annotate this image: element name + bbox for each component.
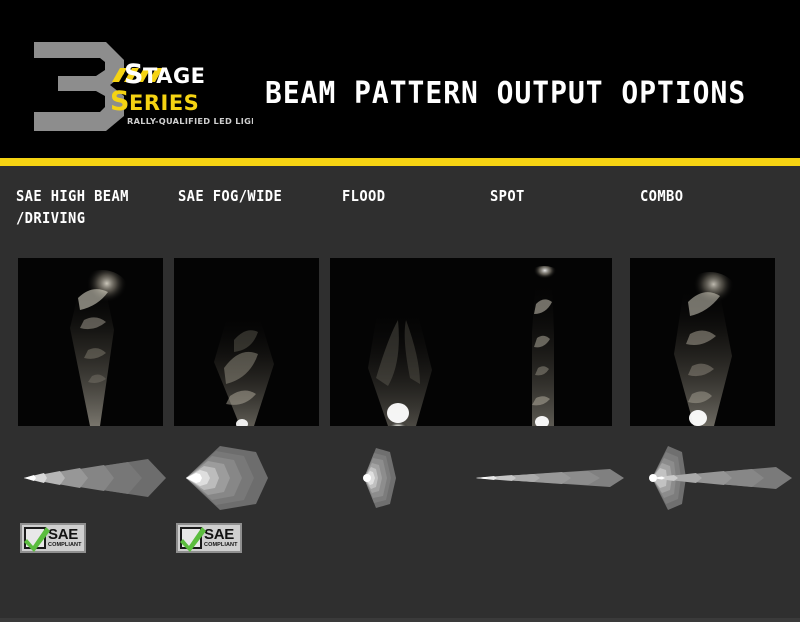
beam-pattern-sae-high-beam-driving	[16, 442, 176, 514]
bottom-edge-line	[0, 618, 800, 622]
beam-option-flood: FLOOD	[328, 166, 480, 618]
beam-photo-combo	[630, 258, 775, 426]
stage-series-logo: S TAGE S ERIES RALLY-QUALIFIED LED LIGHT…	[28, 34, 253, 132]
check-icon	[24, 527, 46, 549]
logo-tagline: RALLY-QUALIFIED LED LIGHTING	[127, 116, 253, 126]
beam-option-sae-fog-wide: SAE FOG/WIDE	[172, 166, 324, 618]
beam-photo-spot	[474, 258, 612, 426]
beam-option-columns: SAE HIGH BEAM /DRIVING	[0, 166, 800, 618]
beam-photo-sae-fog-wide	[174, 258, 319, 426]
column-label: SAE HIGH BEAM /DRIVING	[16, 186, 177, 230]
sae-badge-text: SAE COMPLIANT	[204, 527, 238, 549]
sae-compliant-badge: SAE COMPLIANT	[20, 523, 86, 553]
page-title: BEAM PATTERN OUTPUT OPTIONS	[265, 76, 746, 111]
sae-badge-sub: COMPLIANT	[204, 543, 238, 549]
beam-pattern-sae-fog-wide	[172, 442, 332, 514]
yellow-accent-bar	[0, 158, 800, 166]
sae-badge-main: SAE	[204, 527, 238, 542]
beam-pattern-flood	[328, 442, 488, 514]
beam-option-sae-high-beam-driving: SAE HIGH BEAM /DRIVING	[16, 166, 168, 618]
beam-pattern-spot	[472, 442, 632, 514]
check-icon	[180, 527, 202, 549]
sae-badge-main: SAE	[48, 527, 82, 542]
beam-option-spot: SPOT	[472, 166, 624, 618]
logo-text-series: S	[110, 86, 130, 117]
svg-text:ERIES: ERIES	[129, 91, 199, 115]
beam-pattern-output-options-page: S TAGE S ERIES RALLY-QUALIFIED LED LIGHT…	[0, 0, 800, 622]
column-label: COMBO	[640, 186, 800, 208]
sae-badge-sub: COMPLIANT	[48, 543, 82, 549]
content-area: SAE HIGH BEAM /DRIVING	[0, 166, 800, 618]
sae-compliant-badge: SAE COMPLIANT	[176, 523, 242, 553]
svg-text:TAGE: TAGE	[143, 64, 206, 88]
beam-pattern-combo	[628, 442, 800, 514]
column-label: SAE FOG/WIDE	[178, 186, 339, 208]
beam-photo-sae-high-beam-driving	[18, 258, 163, 426]
sae-badge-text: SAE COMPLIANT	[48, 527, 82, 549]
header-bar: S TAGE S ERIES RALLY-QUALIFIED LED LIGHT…	[0, 0, 800, 158]
column-label: SPOT	[490, 186, 651, 208]
beam-option-combo: COMBO	[628, 166, 780, 618]
beam-photo-flood	[330, 258, 475, 426]
